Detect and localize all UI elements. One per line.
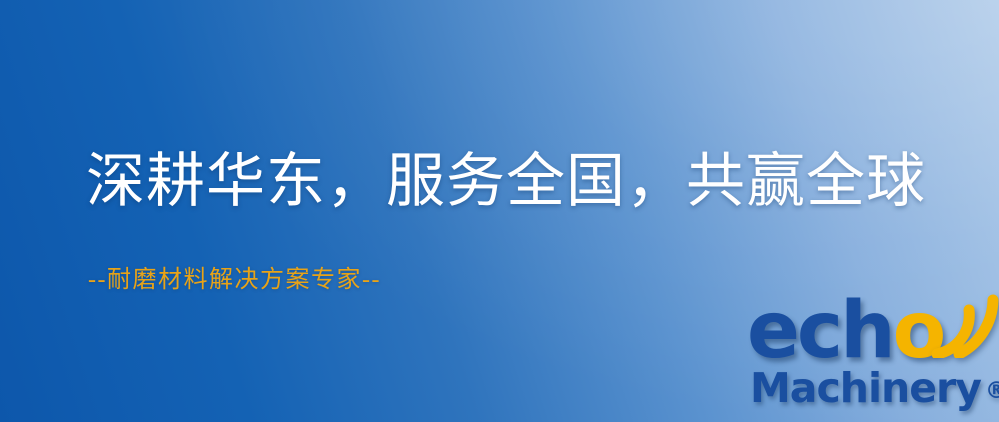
banner-subtitle: --耐磨材料解决方案专家-- (88, 268, 381, 292)
echo-machinery-logo[interactable]: echo Machinery® (745, 298, 999, 422)
hero-banner: 深耕华东，服务全国，共赢全球 --耐磨材料解决方案专家-- echo Machi… (0, 0, 999, 422)
banner-headline: 深耕华东，服务全国，共赢全球 (86, 152, 926, 211)
echo-wave-icon (929, 294, 999, 358)
logo-wordmark: echo (747, 292, 943, 370)
registered-trademark-icon: ® (985, 378, 999, 404)
logo-tagline-text: Machinery (750, 364, 981, 412)
logo-tagline: Machinery® (750, 368, 999, 409)
logo-wordmark-text: ech (747, 286, 893, 376)
